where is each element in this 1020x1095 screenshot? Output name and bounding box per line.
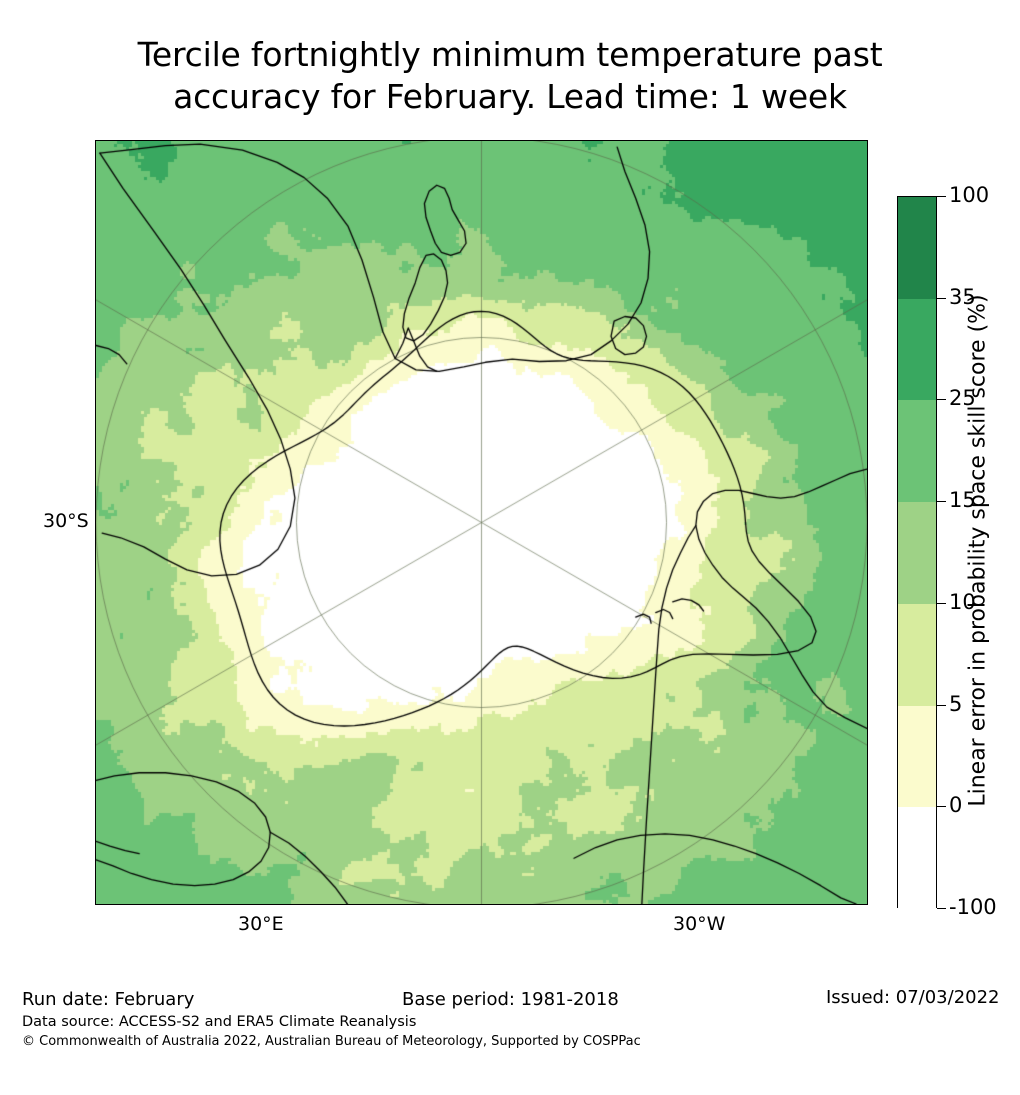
title-line-1: Tercile fortnightly minimum temperature …: [0, 34, 1020, 76]
colorbar-band: [898, 706, 936, 808]
colorbar: 1003525151050-100: [897, 196, 937, 908]
colorbar-tick-label: 5: [949, 694, 962, 715]
colorbar-band: [898, 400, 936, 502]
page-title: Tercile fortnightly minimum temperature …: [0, 34, 1020, 118]
colorbar-band: [898, 299, 936, 401]
issued-date-text: Issued: 07/03/2022: [826, 987, 1000, 1008]
map-plot-area: [95, 140, 868, 905]
axis-tick-lon-30e: 30°E: [238, 913, 284, 935]
colorbar-gradient: [897, 196, 937, 908]
colorbar-tick: [937, 501, 946, 502]
colorbar-band: [898, 197, 936, 299]
colorbar-tick: [937, 603, 946, 604]
colorbar-tick-label: 0: [949, 795, 962, 816]
colorbar-tick: [937, 196, 946, 197]
colorbar-tick: [937, 399, 946, 400]
colorbar-axis-label: Linear error in probability space skill …: [963, 190, 993, 910]
data-source-text: Data source: ACCESS-S2 and ERA5 Climate …: [22, 1014, 416, 1030]
axis-tick-lon-30w: 30°W: [673, 913, 725, 935]
colorbar-tick: [937, 298, 946, 299]
colorbar-band: [898, 502, 936, 604]
climate-map-figure: Tercile fortnightly minimum temperature …: [0, 0, 1020, 1095]
colorbar-tick: [937, 908, 946, 909]
colorbar-band: [898, 604, 936, 706]
colorbar-tick: [937, 705, 946, 706]
axis-tick-lat-30s: 30°S: [43, 510, 89, 532]
run-date-text: Run date: February: [22, 989, 194, 1010]
colorbar-tick: [937, 806, 946, 807]
copyright-text: © Commonwealth of Australia 2022, Austra…: [22, 1034, 641, 1049]
colorbar-label-text: Linear error in probability space skill …: [966, 294, 991, 806]
skill-score-heatmap: [96, 141, 867, 904]
colorbar-band: [898, 807, 936, 909]
title-line-2: accuracy for February. Lead time: 1 week: [0, 76, 1020, 118]
base-period-text: Base period: 1981-2018: [402, 989, 619, 1010]
